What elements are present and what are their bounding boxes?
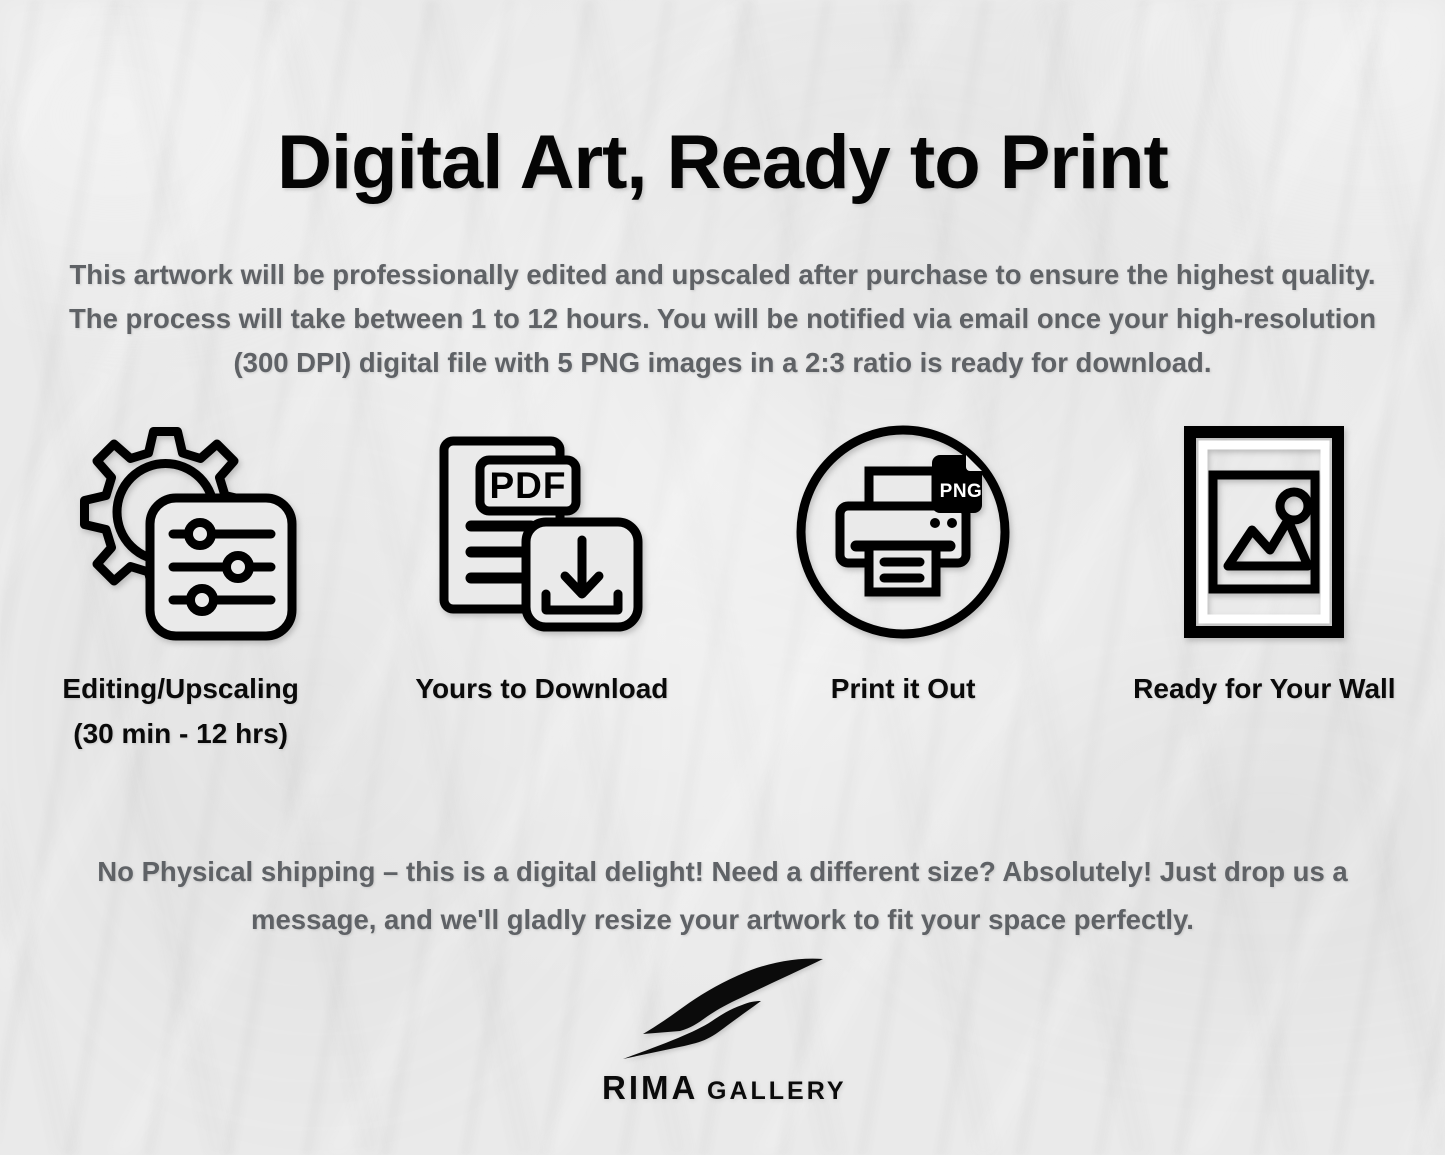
gear-sliders-icon-svg <box>65 423 297 641</box>
outro-paragraph: No Physical shipping – this is a digital… <box>46 848 1399 944</box>
brand-logo: RIMA GALLERY <box>0 955 1445 1109</box>
pdf-badge-label: PDF <box>489 465 566 506</box>
rima-swoosh-mark-icon <box>620 955 826 1063</box>
feature-print-it-out: PNG Print it Out <box>723 412 1084 711</box>
feature-yours-to-download: PDF Yours to Download <box>361 412 722 711</box>
png-badge-label: PNG <box>940 481 983 502</box>
rima-gallery-wordmark: RIMA GALLERY <box>602 1069 844 1109</box>
page-title: Digital Art, Ready to Print <box>0 125 1445 201</box>
framed-picture-icon <box>1184 412 1344 652</box>
feature-ready-for-your-wall: Ready for Your Wall <box>1084 412 1445 711</box>
pdf-download-icon-svg: PDF <box>436 430 648 635</box>
poster-content: Digital Art, Ready to Print This artwork… <box>0 0 1445 1155</box>
feature-caption: Print it Out <box>831 666 976 711</box>
intro-paragraph: This artwork will be professionally edit… <box>46 253 1399 385</box>
feature-caption: Yours to Download <box>415 666 668 711</box>
feature-row: Editing/Upscaling (30 min - 12 hrs) PDF <box>0 412 1445 756</box>
poster-canvas: Digital Art, Ready to Print This artwork… <box>0 0 1445 1155</box>
feature-caption: Ready for Your Wall <box>1133 666 1395 711</box>
feature-editing-upscaling: Editing/Upscaling (30 min - 12 hrs) <box>0 412 361 756</box>
logo-name-primary: RIMA <box>602 1069 698 1106</box>
framed-picture-icon-svg <box>1184 426 1344 638</box>
printer-circle-icon: PNG <box>792 412 1014 652</box>
printer-circle-icon-svg: PNG <box>792 421 1014 643</box>
feature-caption: Editing/Upscaling (30 min - 12 hrs) <box>62 666 298 756</box>
logo-name-secondary: GALLERY <box>707 1077 844 1105</box>
gear-sliders-icon <box>65 412 297 652</box>
pdf-download-icon: PDF <box>436 412 648 652</box>
